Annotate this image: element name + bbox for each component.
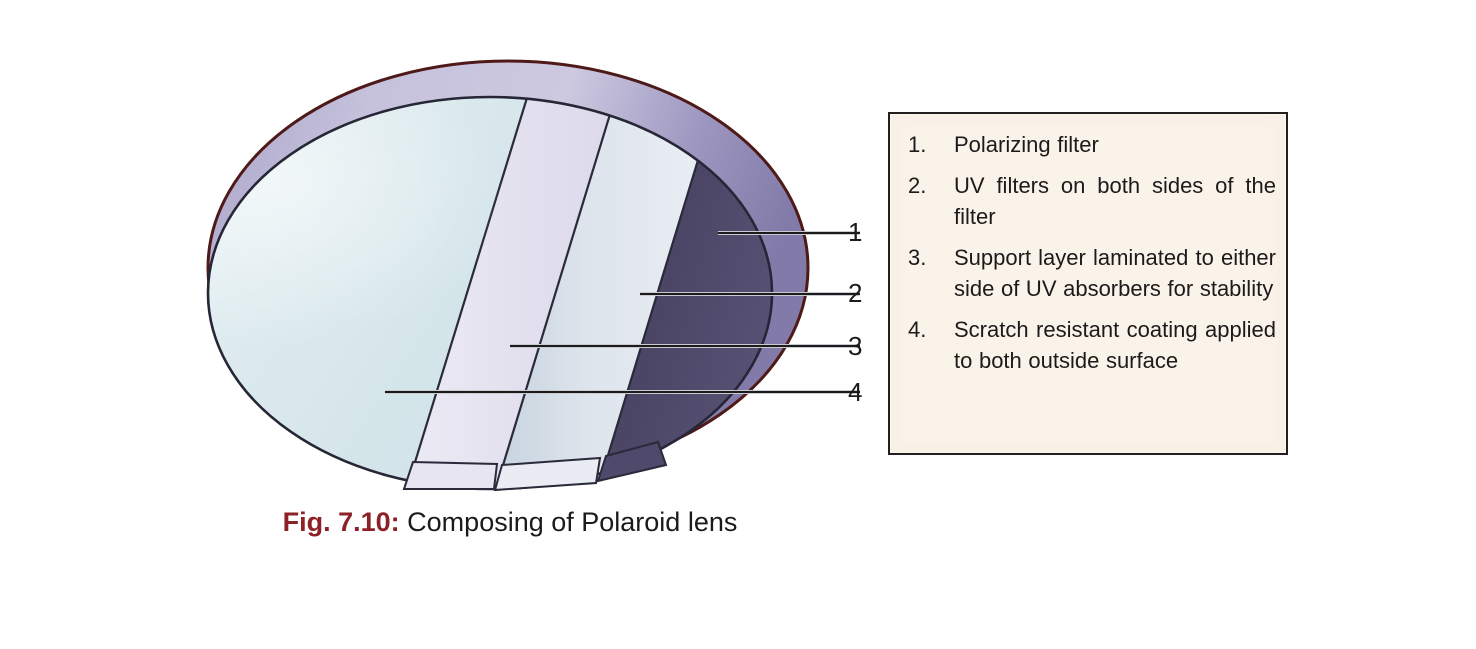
legend-list: 1. Polarizing filter 2. UV filters on bo… <box>908 129 1276 376</box>
legend-marker-1: 1. <box>908 129 944 160</box>
figure-title: Composing of Polaroid lens <box>407 507 737 537</box>
legend-item-1: 1. Polarizing filter <box>908 129 1276 160</box>
legend-item-3: 3. Support layer laminated to either sid… <box>908 242 1276 304</box>
figure-caption: Fig. 7.10: Composing of Polaroid lens <box>0 505 1020 539</box>
legend-marker-3: 3. <box>908 242 944 273</box>
legend-label-2: UV filters on both sides of the filter <box>954 170 1276 232</box>
legend-label-3: Support layer laminated to either side o… <box>954 242 1276 304</box>
legend-label-1: Polarizing filter <box>954 129 1276 160</box>
leader-number-1: 1 <box>848 219 862 245</box>
figure-container: 1 2 3 4 1. Polarizing filter 2. UV filte… <box>0 0 1476 649</box>
legend-label-4: Scratch resistant coating applied to bot… <box>954 314 1276 376</box>
leader-number-4: 4 <box>848 379 862 405</box>
lens-layer-legend: 1. Polarizing filter 2. UV filters on bo… <box>888 112 1288 455</box>
figure-number: Fig. 7.10: <box>283 507 400 537</box>
leader-number-3: 3 <box>848 333 862 359</box>
lens-svg <box>160 28 860 498</box>
polaroid-lens-diagram <box>160 28 860 498</box>
legend-marker-4: 4. <box>908 314 944 345</box>
legend-item-4: 4. Scratch resistant coating applied to … <box>908 314 1276 376</box>
legend-item-2: 2. UV filters on both sides of the filte… <box>908 170 1276 232</box>
legend-marker-2: 2. <box>908 170 944 201</box>
layer-tail-2 <box>404 462 497 489</box>
leader-number-2: 2 <box>848 280 862 306</box>
